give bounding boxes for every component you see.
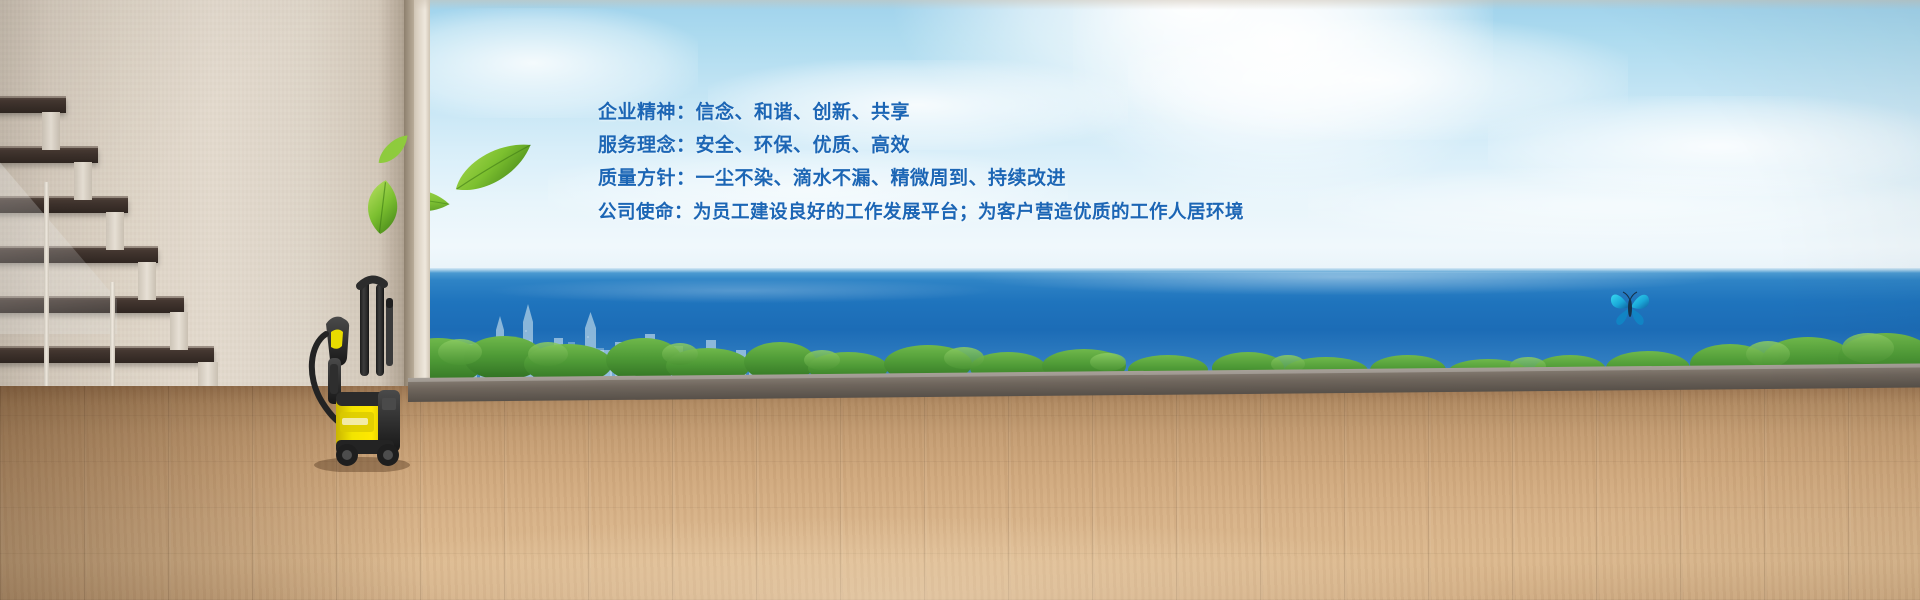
culture-line-service: 服务理念：安全、环保、优质、高效 xyxy=(598,129,1258,162)
mural-top-edge xyxy=(408,0,1920,10)
butterfly xyxy=(1608,286,1652,328)
floating-leaf xyxy=(352,175,412,240)
culture-text-block: 企业精神：信念、和谐、创新、共享 服务理念：安全、环保、优质、高效 质量方针：一… xyxy=(598,96,1258,228)
culture-line-mission: 公司使命：为员工建设良好的工作发展平台；为客户营造优质的工作人居环境 xyxy=(598,195,1258,228)
culture-line-spirit: 企业精神：信念、和谐、创新、共享 xyxy=(598,96,1258,129)
staircase xyxy=(0,96,230,426)
horizon-line xyxy=(408,268,1920,273)
pressure-washer xyxy=(300,272,425,472)
wood-floor xyxy=(0,386,1920,600)
culture-line-quality: 质量方针：一尘不染、滴水不漏、精微周到、持续改进 xyxy=(598,162,1258,195)
corporate-culture-banner: 企业精神：信念、和谐、创新、共享 服务理念：安全、环保、优质、高效 质量方针：一… xyxy=(0,0,1920,600)
